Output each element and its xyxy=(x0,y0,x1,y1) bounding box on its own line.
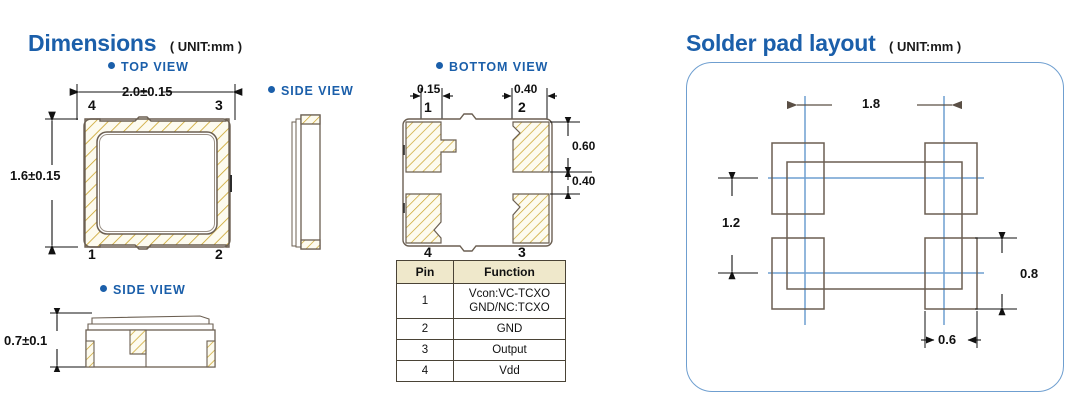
bottom-view-dim-v-bottom: 0.40 xyxy=(572,174,595,188)
table-header-pin: Pin xyxy=(397,261,454,284)
solder-pad-pitch-x-dim: 1.8 xyxy=(862,96,880,111)
table-row: 4 Vdd xyxy=(397,361,566,382)
table-cell-function: Vdd xyxy=(454,361,566,382)
table-cell-pin: 4 xyxy=(397,361,454,382)
solder-pad-width-dim: 0.6 xyxy=(938,332,956,347)
bottom-view-drawing xyxy=(0,0,672,420)
pin-function-table: Pin Function 1 Vcon:VC-TCXO GND/NC:TCXO … xyxy=(396,260,566,382)
bottom-view-pin-3: 3 xyxy=(518,244,526,260)
bottom-view-dim-left: 0.15 xyxy=(417,82,440,96)
table-row: 1 Vcon:VC-TCXO GND/NC:TCXO xyxy=(397,284,566,319)
solder-pad-panel: Solder pad layout ( UNIT:mm ) xyxy=(672,0,1080,420)
table-cell-pin: 2 xyxy=(397,319,454,340)
table-cell-pin: 1 xyxy=(397,284,454,319)
dimensions-panel: Dimensions ( UNIT:mm ) TOP VIEW xyxy=(0,0,672,420)
table-cell-function: GND xyxy=(454,319,566,340)
bottom-view-pin-2: 2 xyxy=(518,99,526,115)
table-cell-pin: 3 xyxy=(397,340,454,361)
solder-pad-height-dim: 0.8 xyxy=(1020,266,1038,281)
table-cell-function: Output xyxy=(454,340,566,361)
bottom-view-pin-4: 4 xyxy=(424,244,432,260)
bottom-view-dim-v-top: 0.60 xyxy=(572,139,595,153)
bottom-view-dim-right: 0.40 xyxy=(514,82,537,96)
solder-pad-drawing xyxy=(672,0,1080,420)
table-cell-function: Vcon:VC-TCXO GND/NC:TCXO xyxy=(454,284,566,319)
table-header-row: Pin Function xyxy=(397,261,566,284)
solder-pad-pitch-y-dim: 1.2 xyxy=(722,215,740,230)
bottom-view-pin-1: 1 xyxy=(424,99,432,115)
table-row: 2 GND xyxy=(397,319,566,340)
table-header-function: Function xyxy=(454,261,566,284)
table-row: 3 Output xyxy=(397,340,566,361)
function-line-2: GND/NC:TCXO xyxy=(469,302,550,314)
function-line-1: Vcon:VC-TCXO xyxy=(469,288,550,300)
